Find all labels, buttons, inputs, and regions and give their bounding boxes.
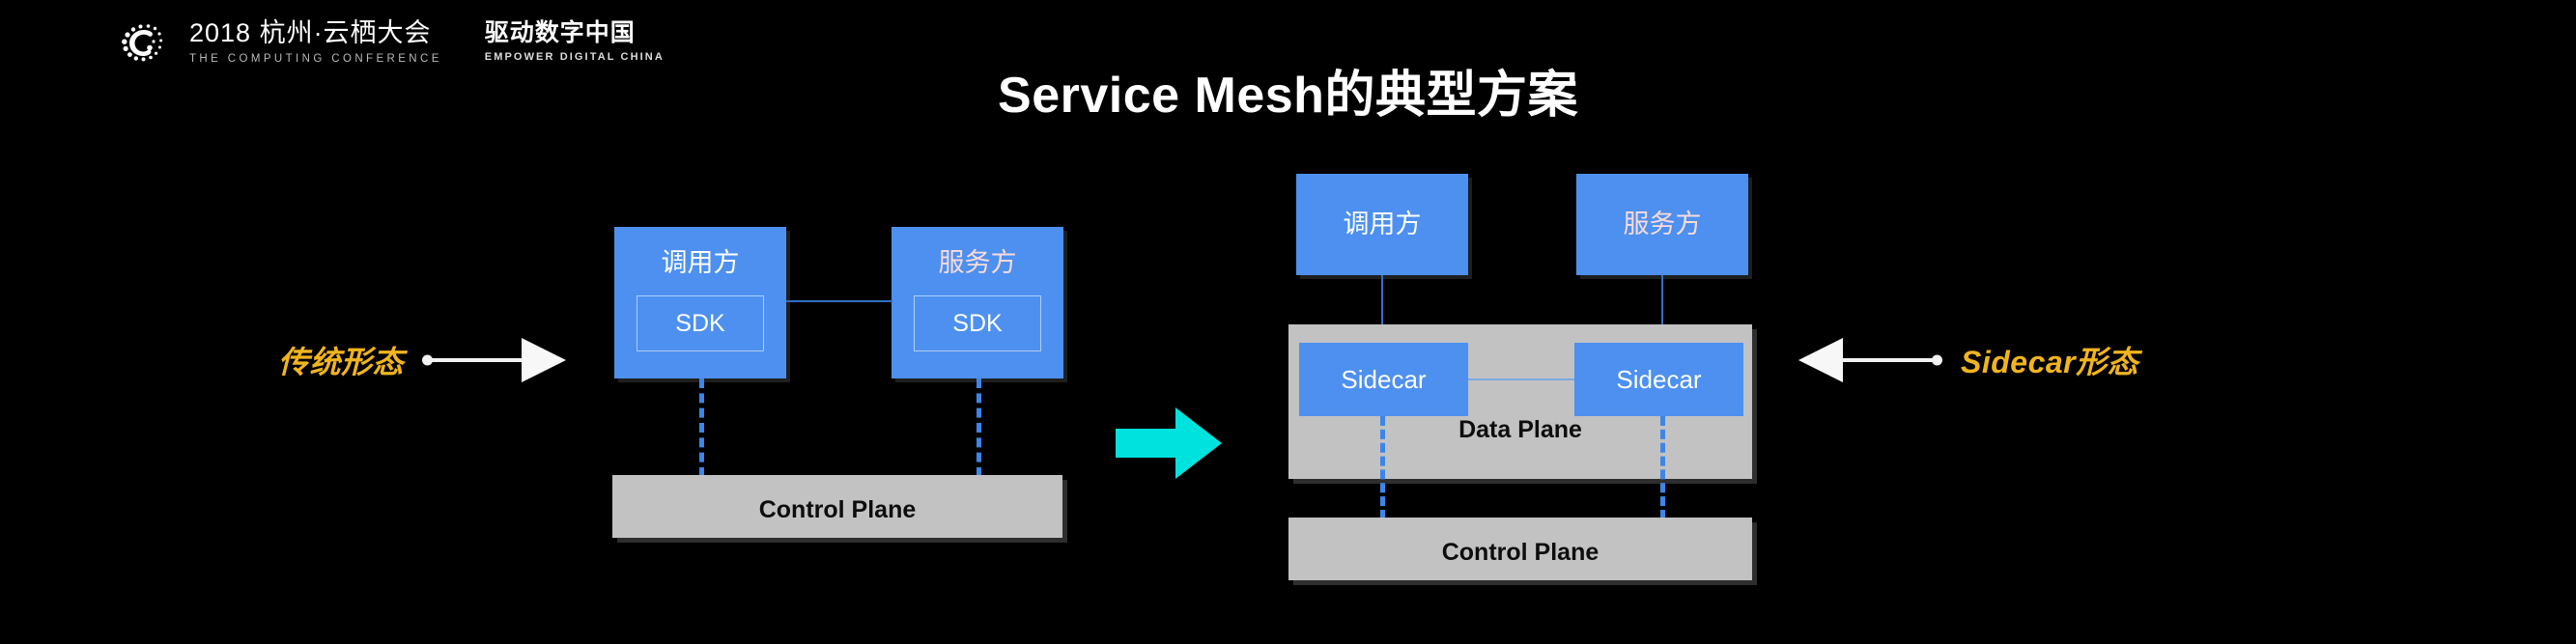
sidecar-right-label: Sidecar bbox=[1616, 367, 1701, 392]
slide-title: Service Mesh的典型方案 bbox=[0, 54, 2576, 126]
arrow-right-icon bbox=[522, 338, 566, 382]
left-control-plane-label: Control Plane bbox=[612, 498, 1062, 522]
left-callout-line bbox=[425, 358, 522, 362]
right-right-control-link bbox=[1660, 416, 1665, 519]
sidecar-link bbox=[1468, 378, 1574, 380]
right-caller-node[interactable]: 调用方 bbox=[1296, 174, 1468, 275]
left-caller-sdk-box: SDK bbox=[637, 295, 764, 351]
left-provider-sdk-box: SDK bbox=[914, 295, 1041, 351]
right-caller-label: 调用方 bbox=[1344, 211, 1422, 238]
transition-arrow-icon bbox=[1116, 407, 1222, 484]
right-callout-line bbox=[1843, 358, 1939, 362]
sidecar-left-label: Sidecar bbox=[1341, 367, 1426, 392]
left-provider-sdk-label: SDK bbox=[952, 310, 1002, 338]
left-control-plane[interactable]: Control Plane bbox=[612, 475, 1062, 538]
left-node-link bbox=[786, 300, 892, 302]
right-provider-node[interactable]: 服务方 bbox=[1576, 174, 1748, 275]
left-provider-control-link bbox=[977, 378, 981, 477]
data-plane-label: Data Plane bbox=[1288, 418, 1752, 442]
callout-dot bbox=[1932, 355, 1942, 366]
right-control-plane[interactable]: Control Plane bbox=[1288, 518, 1752, 580]
sidecar-left-node[interactable]: Sidecar bbox=[1299, 343, 1468, 416]
right-control-plane-label: Control Plane bbox=[1288, 541, 1752, 565]
right-provider-label: 服务方 bbox=[1624, 211, 1702, 238]
left-callout-label: 传统形态 bbox=[278, 338, 404, 382]
left-caller-label: 调用方 bbox=[662, 250, 740, 276]
left-callout: 传统形态 bbox=[278, 338, 566, 382]
callout-dot bbox=[422, 355, 433, 366]
left-provider-label: 服务方 bbox=[939, 250, 1017, 276]
slogan-cn: 驱动数字中国 bbox=[485, 19, 665, 46]
conference-name-cn: 2018 杭州·云栖大会 bbox=[189, 18, 442, 47]
left-caller-sdk-label: SDK bbox=[675, 310, 724, 338]
left-caller-control-link bbox=[699, 378, 704, 477]
right-callout-label: Sidecar形态 bbox=[1961, 338, 2138, 382]
right-callout: Sidecar形态 bbox=[1798, 338, 2138, 382]
right-left-control-link bbox=[1380, 416, 1385, 519]
arrow-left-icon bbox=[1798, 338, 1843, 382]
sidecar-right-node[interactable]: Sidecar bbox=[1574, 343, 1743, 416]
